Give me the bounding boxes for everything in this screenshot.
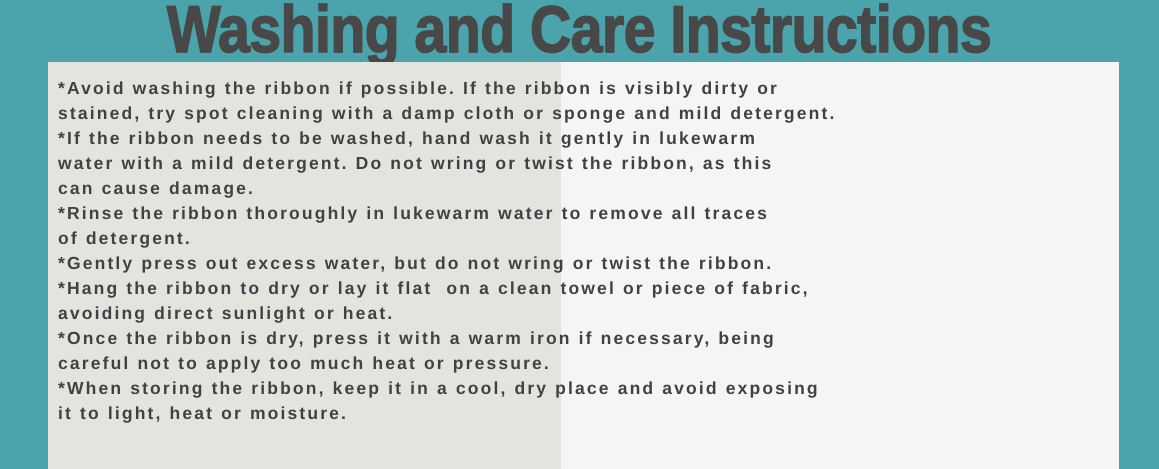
instruction-line: *Avoid washing the ribbon if possible. I… bbox=[58, 76, 1158, 101]
slide-canvas: Washing and Care Instructions *Avoid was… bbox=[0, 0, 1159, 469]
instruction-line: *Hang the ribbon to dry or lay it flat o… bbox=[58, 276, 1158, 301]
instructions-text-block: *Avoid washing the ribbon if possible. I… bbox=[58, 76, 1158, 426]
instructions-panel: *Avoid washing the ribbon if possible. I… bbox=[45, 62, 1119, 469]
instruction-line: stained, try spot cleaning with a damp c… bbox=[58, 101, 1158, 126]
instruction-line: *If the ribbon needs to be washed, hand … bbox=[58, 126, 1158, 151]
title-bar: Washing and Care Instructions bbox=[0, 0, 1159, 62]
instruction-line: it to light, heat or moisture. bbox=[58, 401, 1158, 426]
instruction-line: *Once the ribbon is dry, press it with a… bbox=[58, 326, 1158, 351]
page-title: Washing and Care Instructions bbox=[167, 0, 991, 62]
instruction-line: *Gently press out excess water, but do n… bbox=[58, 251, 1158, 276]
instruction-line: of detergent. bbox=[58, 226, 1158, 251]
instruction-line: avoiding direct sunlight or heat. bbox=[58, 301, 1158, 326]
instruction-line: *Rinse the ribbon thoroughly in lukewarm… bbox=[58, 201, 1158, 226]
instruction-line: *When storing the ribbon, keep it in a c… bbox=[58, 376, 1158, 401]
instruction-line: water with a mild detergent. Do not wrin… bbox=[58, 151, 1158, 176]
panel-left-accent-stripe bbox=[45, 62, 48, 469]
instruction-line: careful not to apply too much heat or pr… bbox=[58, 351, 1158, 376]
instruction-line: can cause damage. bbox=[58, 176, 1158, 201]
